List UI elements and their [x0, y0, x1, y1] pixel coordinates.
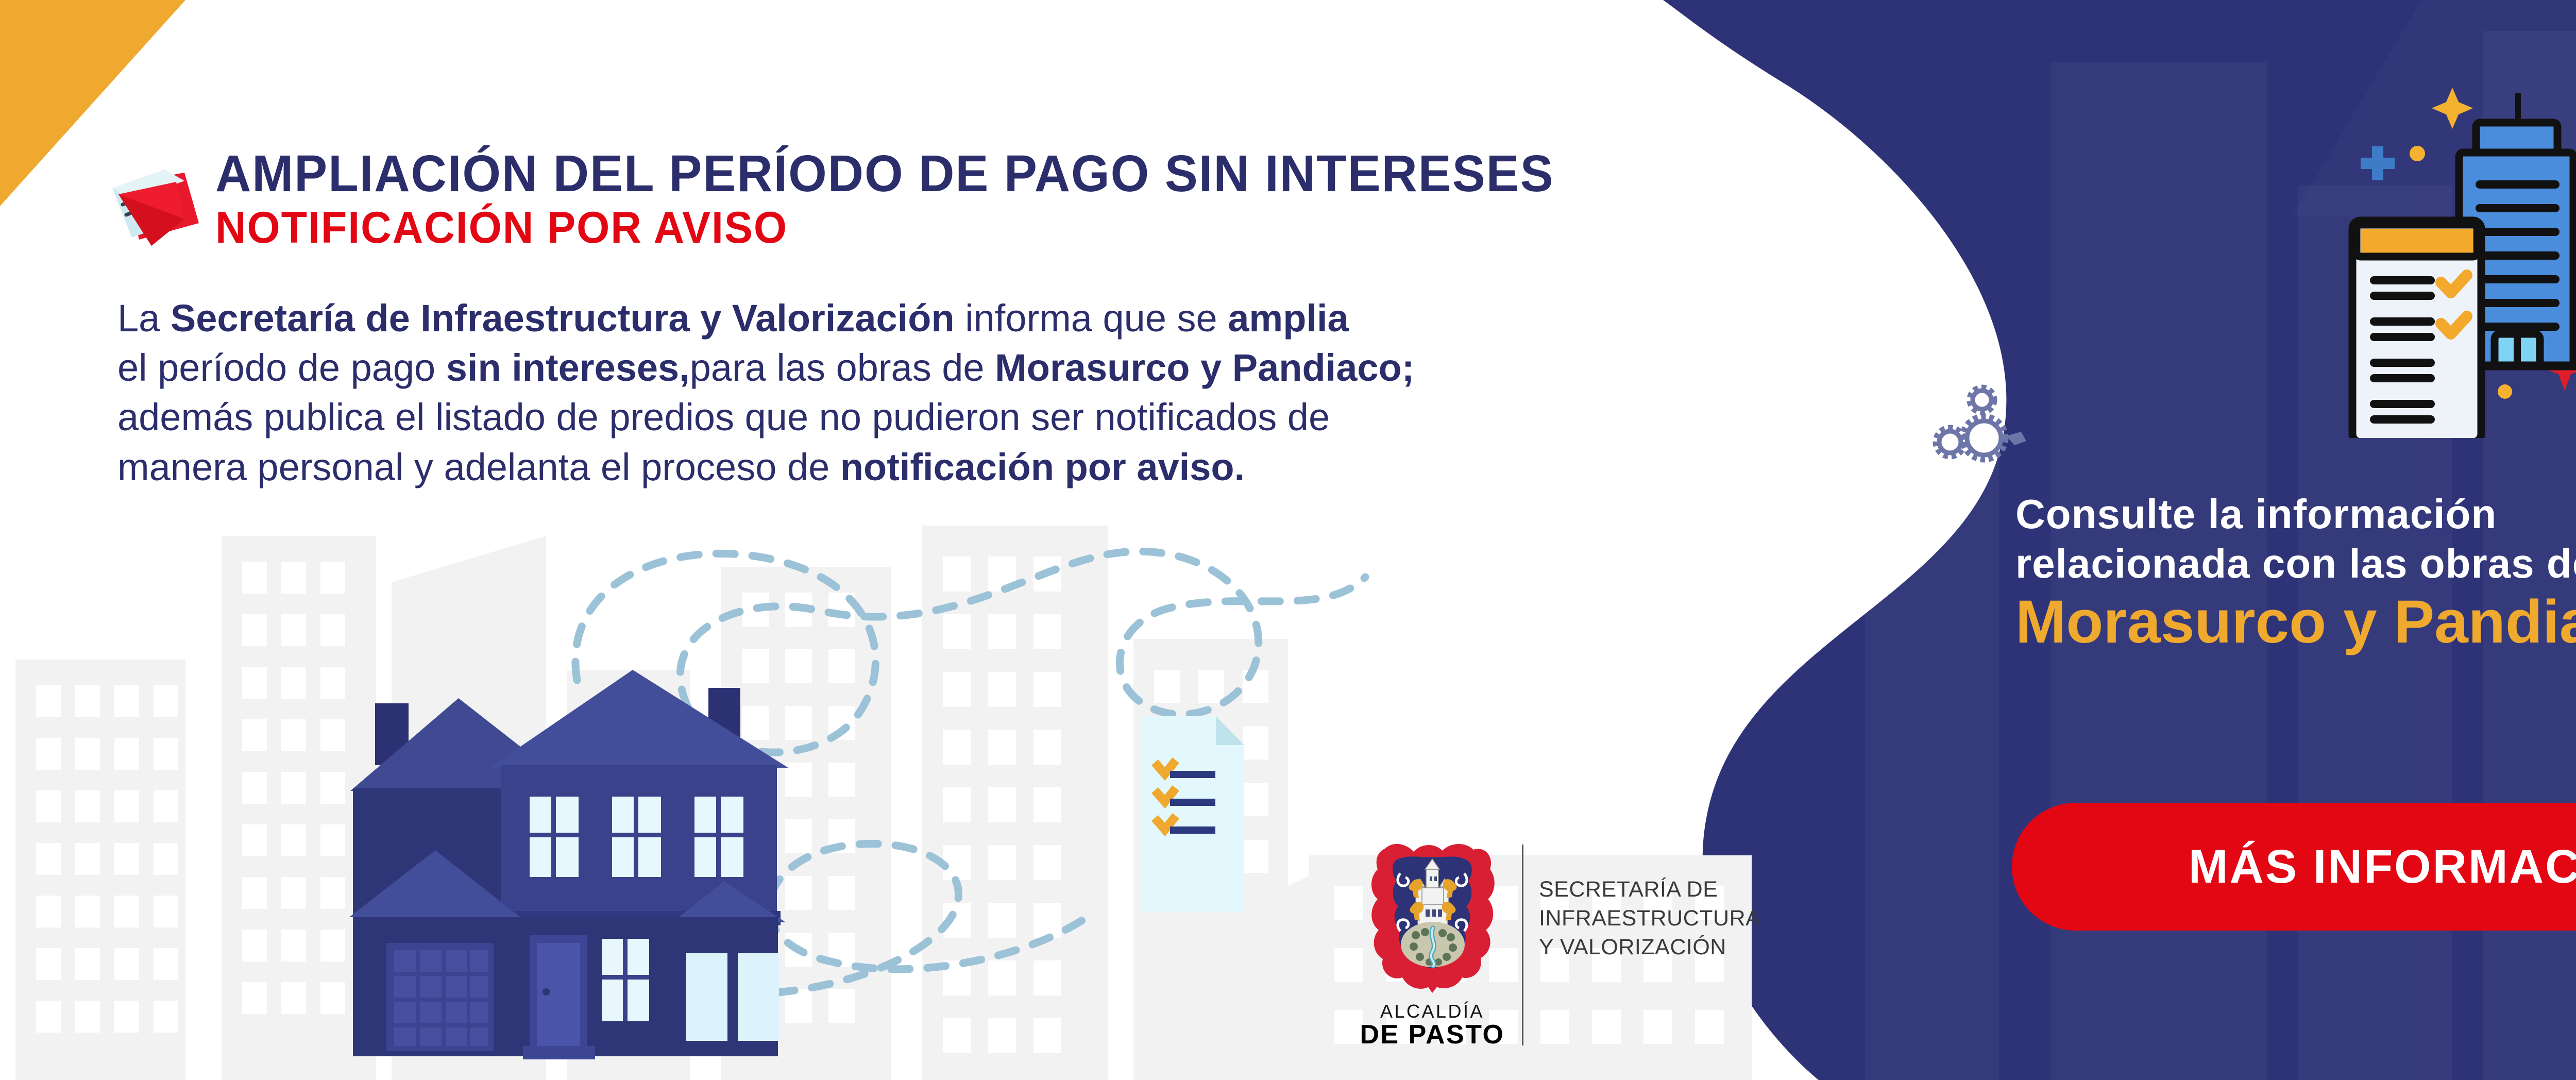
banner-root: AMPLIACIÓN DEL PERÍODO DE PAGO SIN INTER… — [0, 0, 2576, 1080]
body-l2-c: para las obras de — [690, 346, 995, 389]
headline-primary: AMPLIACIÓN DEL PERÍODO DE PAGO SIN INTER… — [215, 147, 1554, 200]
body-l2-d: Morasurco y Pandiaco; — [995, 346, 1414, 389]
mas-informacion-button-label: MÁS INFORMACIÓN — [2189, 840, 2576, 894]
wordmark-alcaldia: ALCALDÍA — [1360, 1002, 1504, 1021]
secretaria-line-2: INFRAESTRUCTURA — [1539, 904, 1760, 933]
body-line-2: el período de pago sin intereses,para la… — [117, 343, 1833, 393]
logo-divider — [1522, 845, 1523, 1045]
checklist-paper-icon — [1141, 716, 1244, 912]
cta-line-1: Consulte la información — [2015, 490, 2576, 539]
body-l1-d: amplia — [1228, 297, 1348, 340]
body-line-4: manera personal y adelanta el proceso de… — [117, 443, 1833, 492]
body-l2-b: sin intereses, — [446, 346, 690, 389]
cta-highlight: Morasurco y Pandiaco. — [2015, 589, 2576, 655]
pasto-coat-of-arms — [1364, 837, 1501, 997]
house-illustration — [289, 593, 866, 1061]
building-checklist-illustration — [2282, 57, 2576, 438]
body-l4-a: manera personal y adelanta el proceso de — [117, 446, 840, 488]
body-l1-a: La — [117, 297, 171, 340]
body-l1-c: informa que se — [955, 297, 1228, 340]
cta-line-2: relacionada con las obras de — [2015, 539, 2576, 588]
secretaria-line-1: SECRETARÍA DE — [1539, 875, 1760, 904]
cta-text-block: Consulte la información relacionada con … — [2015, 490, 2576, 655]
body-copy: La Secretaría de Infraestructura y Valor… — [117, 294, 1833, 492]
wordmark-de-pasto: DE PASTO — [1360, 1021, 1504, 1049]
body-l1-b: Secretaría de Infraestructura y Valoriza… — [171, 297, 955, 340]
body-line-3: además publica el listado de predios que… — [117, 393, 1833, 442]
crest-column: ALCALDÍA DE PASTO — [1355, 837, 1510, 1049]
secretaria-text: SECRETARÍA DE INFRAESTRUCTURA Y VALORIZA… — [1539, 875, 1760, 962]
headline-secondary: NOTIFICACIÓN POR AVISO — [215, 204, 1554, 252]
mas-informacion-button[interactable]: MÁS INFORMACIÓN — [2012, 803, 2576, 931]
envelope-icon — [98, 157, 211, 258]
crest-wordmark: ALCALDÍA DE PASTO — [1360, 1002, 1504, 1049]
body-l2-a: el período de pago — [117, 346, 446, 389]
secretaria-line-3: Y VALORIZACIÓN — [1539, 933, 1760, 962]
logo-lockup: ALCALDÍA DE PASTO SECRETARÍA DE INFRAEST… — [1355, 837, 1798, 1064]
gears-icon — [1916, 380, 2055, 478]
headline-block: AMPLIACIÓN DEL PERÍODO DE PAGO SIN INTER… — [215, 147, 1610, 252]
body-l4-b: notificación por aviso. — [840, 446, 1245, 488]
body-line-1: La Secretaría de Infraestructura y Valor… — [117, 294, 1833, 343]
